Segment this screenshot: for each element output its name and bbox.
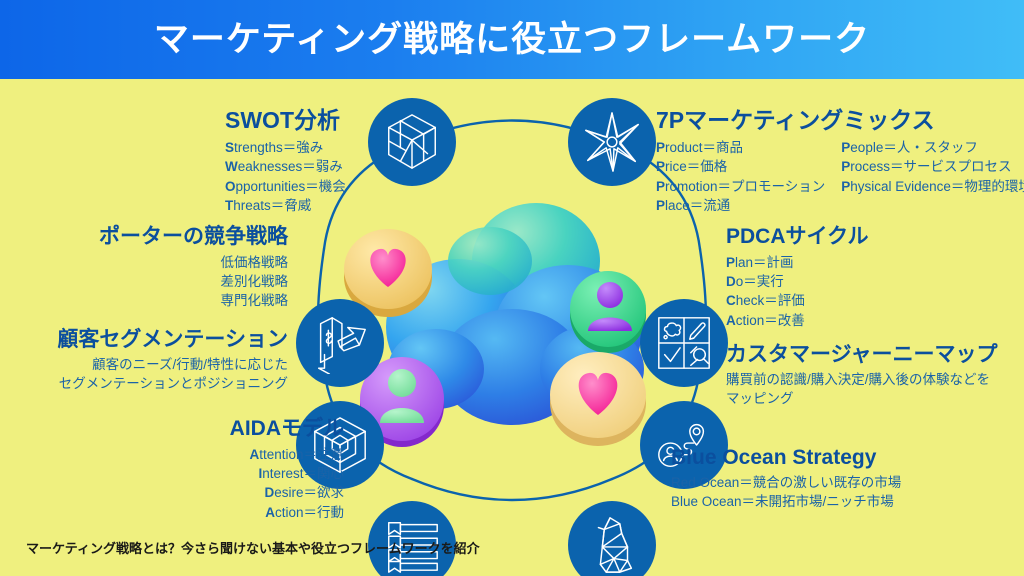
aida-lines: Attention＝注意 Interest＝関心 Desire＝欲求 Actio… xyxy=(120,445,344,522)
blue-ocean-line-2: Blue Ocean＝未開拓市場/ニッチ市場 xyxy=(671,492,901,511)
blue-ocean-lines: Red Ocean＝競合の激しい既存の市場 Blue Ocean＝未開拓市場/ニ… xyxy=(671,473,901,511)
aida-line-2: Interest＝関心 xyxy=(120,464,344,483)
node-pdca[interactable] xyxy=(640,299,728,387)
seven-p-column-2: People＝人・スタッフ Process＝サービスプロセス Physical … xyxy=(841,138,1024,215)
person-badge-right xyxy=(570,271,646,353)
swot-line-2: Weaknesses＝弱み xyxy=(225,157,346,176)
pdca-line-3: Check＝評価 xyxy=(726,291,868,310)
journey-map-lines: 購買前の認識/購入決定/購入後の体験などを マッピング xyxy=(726,370,998,408)
block-pdca: PDCAサイクル Plan＝計画 Do＝実行 Check＝評価 Action＝改… xyxy=(726,225,868,330)
block-journey-map: カスタマージャーニーマップ 購買前の認識/購入決定/購入後の体験などを マッピン… xyxy=(726,343,998,408)
polygon-penguin-icon xyxy=(581,514,643,576)
swot-line-4: Threats＝脅威 xyxy=(225,196,346,215)
block-seven-p: 7Pマーケティングミックス Product＝商品 Price＝価格 Promot… xyxy=(656,108,1024,215)
swot-line-1: Strengths＝強み xyxy=(225,138,346,157)
node-seven-p[interactable] xyxy=(568,98,656,186)
block-porter: ポーターの競争戦略 低価格戦略 差別化戦略 専門化戦略 xyxy=(56,225,288,311)
page-title: マーケティング戦略に役立つフレームワーク xyxy=(154,22,870,57)
seven-p-c1-line-2: Price＝価格 xyxy=(656,157,825,176)
porter-lines: 低価格戦略 差別化戦略 専門化戦略 xyxy=(56,253,288,310)
seven-p-c2-line-1: People＝人・スタッフ xyxy=(841,138,1024,157)
journey-map-title: カスタマージャーニーマップ xyxy=(726,343,998,366)
aida-line-1: Attention＝注意 xyxy=(120,445,344,464)
pdca-title: PDCAサイクル xyxy=(726,225,868,248)
seven-point-star-icon xyxy=(581,111,643,173)
page-header: マーケティング戦略に役立つフレームワーク xyxy=(0,0,1024,79)
seven-p-title: 7Pマーケティングミックス xyxy=(656,108,1024,133)
swot-title: SWOT分析 xyxy=(225,108,346,133)
money-arrow-icon xyxy=(309,312,371,374)
seven-p-c2-line-3: Physical Evidence＝物理的環境 xyxy=(841,177,1024,196)
journey-map-line-1: 購買前の認識/購入決定/購入後の体験などを xyxy=(726,370,998,389)
block-aida: AIDAモデル Attention＝注意 Interest＝関心 Desire＝… xyxy=(120,417,344,522)
node-swot[interactable] xyxy=(368,98,456,186)
block-blue-ocean: Blue Ocean Strategy Red Ocean＝競合の激しい既存の市… xyxy=(671,446,901,511)
block-swot: SWOT分析 Strengths＝強み Weaknesses＝弱み Opport… xyxy=(225,108,346,215)
segmentation-line-1: 顧客のニーズ/行動/特性に応じた xyxy=(18,355,288,374)
pdca-line-4: Action＝改善 xyxy=(726,311,868,330)
porter-title: ポーターの競争戦略 xyxy=(56,225,288,248)
seven-p-lines: Product＝商品 Price＝価格 Promotion＝プロモーション Pl… xyxy=(656,138,1024,215)
journey-map-line-2: マッピング xyxy=(726,389,998,408)
porter-line-1: 低価格戦略 xyxy=(56,253,288,272)
aida-title: AIDAモデル xyxy=(120,417,344,440)
seven-p-column-1: Product＝商品 Price＝価格 Promotion＝プロモーション Pl… xyxy=(656,138,825,215)
porter-line-3: 専門化戦略 xyxy=(56,291,288,310)
segmentation-title: 顧客セグメンテーション xyxy=(18,328,288,351)
swot-lines: Strengths＝強み Weaknesses＝弱み Opportunities… xyxy=(225,138,346,215)
seven-p-c1-line-1: Product＝商品 xyxy=(656,138,825,157)
block-segmentation: 顧客セグメンテーション 顧客のニーズ/行動/特性に応じた セグメンテーションとポ… xyxy=(18,328,288,393)
node-porter[interactable] xyxy=(296,299,384,387)
aida-line-4: Action＝行動 xyxy=(120,503,344,522)
pdca-quadrant-icon xyxy=(653,312,715,374)
pdca-line-1: Plan＝計画 xyxy=(726,253,868,272)
heart-badge-bottom-right xyxy=(550,352,646,446)
seven-p-c1-line-3: Promotion＝プロモーション xyxy=(656,177,825,196)
seven-p-c1-line-4: Place＝流通 xyxy=(656,196,825,215)
aida-line-3: Desire＝欲求 xyxy=(120,483,344,502)
footer-caption: マーケティング戦略とは？今さら聞けない基本や役立つフレームワークを紹介 xyxy=(26,538,480,557)
pdca-line-2: Do＝実行 xyxy=(726,272,868,291)
blue-ocean-title: Blue Ocean Strategy xyxy=(671,446,901,469)
blue-ocean-line-1: Red Ocean＝競合の激しい既存の市場 xyxy=(671,473,901,492)
seven-p-c2-line-2: Process＝サービスプロセス xyxy=(841,157,1024,176)
center-illustration xyxy=(340,199,684,459)
segmentation-line-2: セグメンテーションとポジショニング xyxy=(18,374,288,393)
pdca-lines: Plan＝計画 Do＝実行 Check＝評価 Action＝改善 xyxy=(726,253,868,330)
porter-line-2: 差別化戦略 xyxy=(56,272,288,291)
infographic-stage: SWOT分析 Strengths＝強み Weaknesses＝弱み Opport… xyxy=(0,79,1024,576)
open-cube-icon xyxy=(381,111,443,173)
swot-line-3: Opportunities＝機会 xyxy=(225,177,346,196)
segmentation-lines: 顧客のニーズ/行動/特性に応じた セグメンテーションとポジショニング xyxy=(18,355,288,393)
